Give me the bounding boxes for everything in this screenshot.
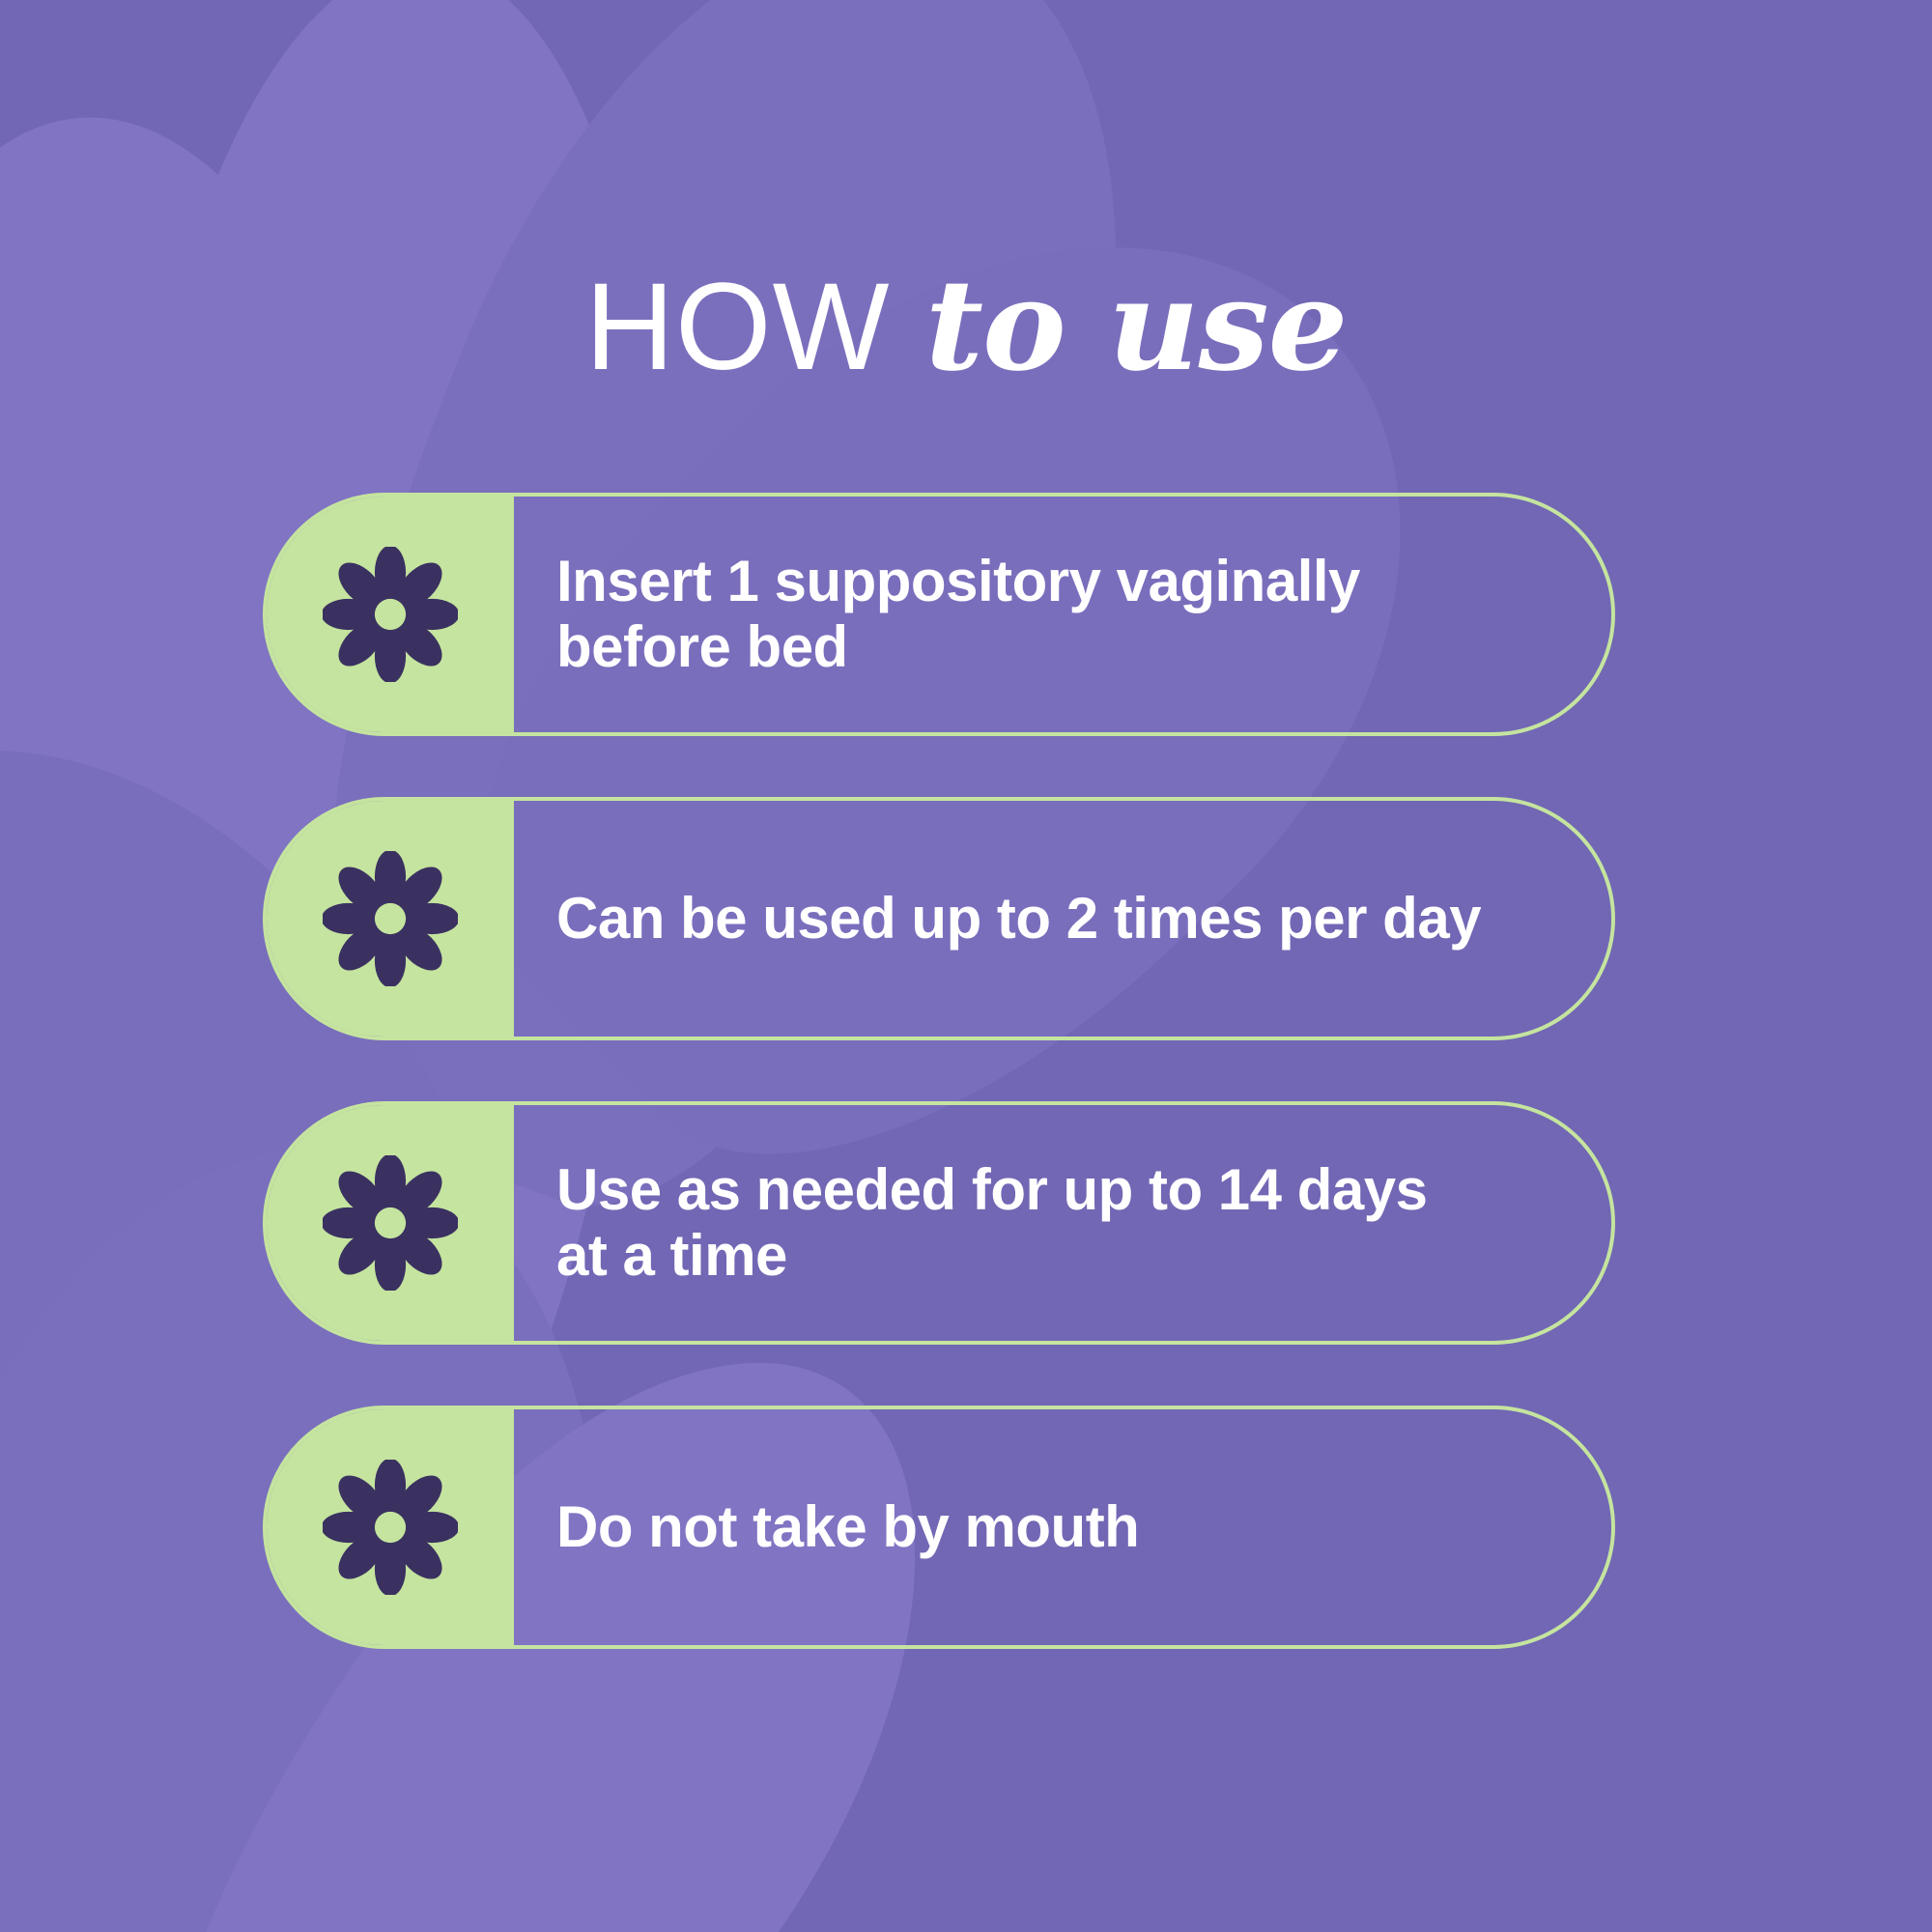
step-text-body: Do not take by mouth [514,1409,1611,1645]
step-icon-cap [267,1105,514,1341]
list-item: Do not take by mouth [263,1406,1615,1649]
step-text-line: at a time [556,1223,1427,1289]
step-text-body: Insert 1 suppository vaginally before be… [514,497,1611,732]
list-item: Insert 1 suppository vaginally before be… [263,493,1615,736]
step-text: Do not take by mouth [556,1494,1139,1560]
page-title-italic: to use [925,251,1347,399]
page-title-plain: HOW [585,258,891,396]
list-item: Can be used up to 2 times per day [263,797,1615,1040]
flower-icon [323,1460,458,1595]
step-text: Insert 1 suppository vaginally before be… [556,549,1360,681]
step-text-body: Can be used up to 2 times per day [514,801,1611,1037]
step-text: Can be used up to 2 times per day [556,886,1481,952]
step-text-line: Do not take by mouth [556,1494,1139,1560]
list-item: Use as needed for up to 14 days at a tim… [263,1101,1615,1345]
step-icon-cap [267,497,514,732]
step-text-line: Use as needed for up to 14 days [556,1157,1427,1223]
step-text-line: before bed [556,614,1360,680]
step-text-line: Can be used up to 2 times per day [556,886,1481,952]
page-title-space [890,258,925,396]
flower-icon [323,851,458,986]
how-to-use-infographic: HOW to use [0,0,1932,1932]
flower-icon [323,1155,458,1291]
step-text-line: Insert 1 suppository vaginally [556,549,1360,614]
step-text-body: Use as needed for up to 14 days at a tim… [514,1105,1611,1341]
step-icon-cap [267,801,514,1037]
step-icon-cap [267,1409,514,1645]
flower-icon [323,547,458,682]
step-text: Use as needed for up to 14 days at a tim… [556,1157,1427,1290]
page-title: HOW to use [0,263,1932,389]
steps-list: Insert 1 suppository vaginally before be… [263,493,1615,1649]
